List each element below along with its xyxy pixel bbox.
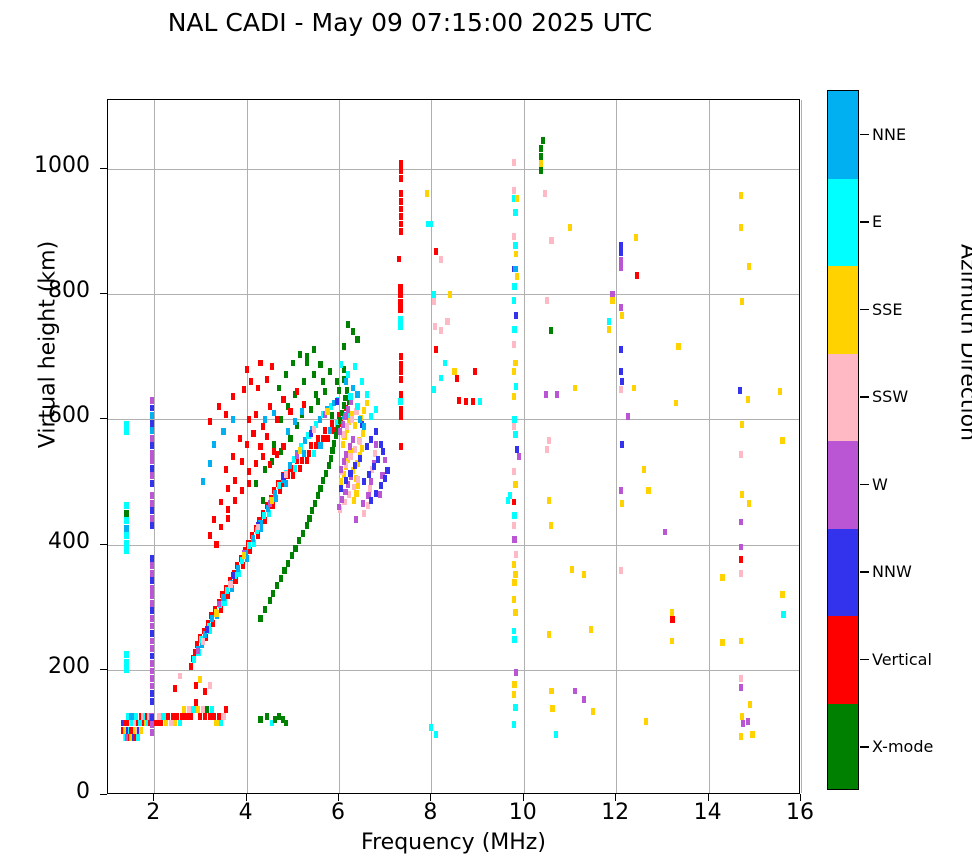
scatter-point [124, 510, 128, 517]
scatter-point [513, 704, 517, 711]
scatter-point [150, 623, 154, 630]
scatter-point [452, 368, 456, 375]
scatter-point [582, 696, 586, 703]
scatter-point [365, 391, 369, 398]
scatter-point [549, 327, 553, 334]
scatter-point [512, 522, 516, 529]
scatter-point [150, 698, 154, 705]
scatter-point [780, 591, 784, 598]
scatter-point [251, 535, 255, 542]
scatter-point [547, 437, 551, 444]
scatter-point [196, 706, 200, 713]
scatter-point [318, 442, 322, 449]
scatter-point [178, 720, 182, 727]
scatter-point [310, 507, 314, 514]
scatter-point [355, 391, 359, 398]
scatter-point [512, 691, 516, 698]
scatter-point [512, 341, 516, 348]
scatter-point [513, 266, 517, 273]
scatter-point [265, 433, 269, 440]
scatter-point [173, 685, 177, 692]
scatter-point [539, 153, 543, 160]
scatter-point [150, 600, 154, 607]
scatter-point [554, 731, 558, 738]
scatter-point [619, 264, 623, 271]
scatter-point [348, 453, 352, 460]
scatter-point [282, 567, 286, 574]
scatter-point [369, 497, 373, 504]
colorbar-segment-sse [828, 266, 858, 354]
scatter-point [305, 457, 309, 464]
x-tick-label: 8 [400, 800, 460, 825]
scatter-point [646, 487, 650, 494]
y-tick [100, 418, 107, 419]
scatter-point [471, 398, 475, 405]
scatter-point [514, 251, 518, 258]
scatter-point [399, 190, 403, 197]
scatter-point [325, 435, 329, 442]
scatter-point [184, 713, 188, 720]
scatter-point [568, 224, 572, 231]
scatter-point [353, 363, 357, 370]
scatter-point [150, 607, 154, 614]
scatter-point [635, 272, 639, 279]
scatter-point [399, 206, 403, 213]
scatter-point [300, 408, 304, 415]
scatter-point [740, 421, 744, 428]
scatter-point [150, 515, 154, 522]
scatter-point [173, 720, 177, 727]
scatter-point [124, 525, 128, 532]
scatter-point [544, 391, 548, 398]
scatter-point [323, 427, 327, 434]
scatter-point [512, 159, 516, 166]
scatter-point [301, 530, 305, 537]
scatter-point [309, 442, 313, 449]
scatter-point [739, 192, 743, 199]
scatter-point [171, 713, 175, 720]
colorbar-segment-nne [828, 91, 858, 179]
scatter-point [231, 453, 235, 460]
scatter-point [247, 480, 251, 487]
scatter-point [512, 499, 516, 506]
scatter-point [150, 555, 154, 562]
scatter-point [328, 368, 332, 375]
colorbar-title: Azimuth Direction [956, 203, 972, 483]
scatter-point [217, 601, 221, 608]
scatter-point [309, 406, 313, 413]
scatter-point [350, 416, 354, 423]
scatter-point [663, 529, 667, 536]
scatter-point [150, 690, 154, 697]
scatter-point [189, 663, 193, 670]
scatter-point [642, 466, 646, 473]
scatter-point [302, 378, 306, 385]
ionogram-page: NAL CADI - May 09 07:15:00 2025 UTC 2468… [0, 0, 972, 865]
scatter-point [150, 714, 154, 721]
scatter-point [340, 496, 344, 503]
scatter-point [626, 413, 630, 420]
scatter-point [619, 257, 623, 264]
scatter-point [198, 676, 202, 683]
scatter-point [399, 167, 403, 174]
scatter-point [355, 336, 359, 343]
scatter-point [150, 683, 154, 690]
scatter-point [270, 497, 274, 504]
scatter-point [369, 478, 373, 485]
scatter-point [307, 515, 311, 522]
scatter-point [547, 497, 551, 504]
scatter-point [478, 398, 482, 405]
scatter-point [198, 713, 202, 720]
y-tick [100, 794, 107, 795]
scatter-point [124, 666, 128, 673]
scatter-point [439, 256, 443, 263]
y-tick [100, 293, 107, 294]
scatter-point [231, 416, 235, 423]
scatter-point [620, 500, 624, 507]
scatter-point [124, 532, 128, 539]
scatter-point [124, 651, 128, 658]
scatter-point [205, 706, 209, 713]
scatter-point [368, 485, 372, 492]
scatter-point [150, 675, 154, 682]
scatter-point [242, 386, 246, 393]
scatter-point [161, 713, 165, 720]
scatter-point [305, 360, 309, 367]
scatter-point [512, 326, 516, 333]
scatter-point [549, 522, 553, 529]
scatter-point [372, 463, 376, 470]
colorbar-tick [860, 746, 869, 747]
scatter-point [268, 403, 272, 410]
scatter-point [254, 411, 258, 418]
scatter-point [619, 249, 623, 256]
scatter-point [254, 460, 258, 467]
scatter-point [354, 516, 358, 523]
scatter-point [512, 628, 516, 635]
scatter-point [365, 400, 369, 407]
scatter-point [175, 713, 179, 720]
scatter-point [339, 466, 343, 473]
scatter-point [515, 446, 519, 453]
scatter-points [108, 100, 799, 793]
scatter-point [221, 713, 225, 720]
scatter-point [277, 482, 281, 489]
scatter-point [385, 467, 389, 474]
scatter-point [258, 443, 262, 450]
colorbar-segment-ssw [828, 354, 858, 442]
scatter-point [512, 187, 516, 194]
scatter-point [739, 544, 743, 551]
scatter-point [150, 585, 154, 592]
scatter-point [374, 441, 378, 448]
colorbar-label-x-mode: X-mode [872, 737, 933, 756]
scatter-point [219, 499, 223, 506]
scatter-point [214, 720, 218, 727]
scatter-point [352, 497, 356, 504]
scatter-point [328, 427, 332, 434]
scatter-point [247, 416, 251, 423]
scatter-point [620, 378, 624, 385]
scatter-point [383, 475, 387, 482]
scatter-point [619, 346, 623, 353]
scatter-point [445, 318, 449, 325]
scatter-point [739, 675, 743, 682]
colorbar-tick [860, 396, 869, 397]
scatter-point [277, 385, 281, 392]
scatter-point [512, 681, 516, 688]
scatter-point [512, 368, 516, 375]
scatter-point [217, 403, 221, 410]
scatter-point [312, 426, 316, 433]
scatter-point [573, 385, 577, 392]
scatter-point [124, 421, 128, 428]
scatter-point [150, 500, 154, 507]
scatter-point [738, 387, 742, 394]
scatter-point [307, 450, 311, 457]
scatter-point [365, 443, 369, 450]
x-tick-label: 4 [216, 800, 276, 825]
scatter-point [305, 353, 309, 360]
scatter-point [739, 733, 743, 740]
scatter-point [512, 721, 516, 728]
scatter-point [261, 497, 265, 504]
scatter-point [428, 221, 432, 228]
scatter-point [187, 706, 191, 713]
scatter-point [268, 461, 272, 468]
scatter-point [362, 407, 366, 414]
scatter-point [245, 366, 249, 373]
scatter-point [191, 706, 195, 713]
scatter-point [361, 430, 365, 437]
scatter-point [150, 592, 154, 599]
scatter-point [208, 460, 212, 467]
scatter-point [374, 428, 378, 435]
scatter-point [356, 476, 360, 483]
scatter-point [346, 371, 350, 378]
scatter-point [238, 435, 242, 442]
scatter-point [150, 668, 154, 675]
scatter-point [228, 581, 232, 588]
scatter-point [473, 368, 477, 375]
scatter-point [189, 713, 193, 720]
scatter-point [619, 487, 623, 494]
scatter-point [515, 195, 519, 202]
scatter-point [262, 512, 266, 519]
scatter-point [247, 542, 251, 549]
x-tick-label: 6 [308, 800, 368, 825]
scatter-point [288, 435, 292, 442]
scatter-point [739, 519, 743, 526]
scatter-point [295, 388, 299, 395]
scatter-point [291, 472, 295, 479]
scatter-point [432, 386, 436, 393]
scatter-point [748, 701, 752, 708]
scatter-point [781, 611, 785, 618]
colorbar-segment-w [828, 441, 858, 529]
scatter-point [780, 437, 784, 444]
scatter-point [284, 371, 288, 378]
scatter-point [279, 416, 283, 423]
scatter-point [589, 626, 593, 633]
scatter-point [399, 198, 403, 205]
scatter-point [514, 669, 518, 676]
scatter-point [610, 297, 614, 304]
scatter-point [337, 504, 341, 511]
scatter-point [355, 403, 359, 410]
scatter-point [512, 416, 516, 423]
scatter-point [268, 597, 272, 604]
scatter-point [293, 418, 297, 425]
colorbar-label-w: W [872, 475, 888, 494]
scatter-point [316, 398, 320, 405]
scatter-point [346, 406, 350, 413]
scatter-point [201, 478, 205, 485]
scatter-point [312, 346, 316, 353]
scatter-point [747, 263, 751, 270]
scatter-point [335, 378, 339, 385]
scatter-point [356, 482, 360, 489]
scatter-point [337, 387, 341, 394]
scatter-point [291, 360, 295, 367]
scatter-point [288, 462, 292, 469]
scatter-point [265, 376, 269, 383]
scatter-point [399, 368, 403, 375]
scatter-point [150, 420, 154, 427]
scatter-point [297, 537, 301, 544]
scatter-point [620, 441, 624, 448]
scatter-point [221, 428, 225, 435]
scatter-point [212, 516, 216, 523]
scatter-point [134, 713, 138, 720]
scatter-point [256, 524, 260, 531]
scatter-point [150, 570, 154, 577]
scatter-point [254, 480, 258, 487]
scatter-point [321, 477, 325, 484]
scatter-point [399, 406, 403, 413]
scatter-point [398, 316, 402, 323]
scatter-point [272, 441, 276, 448]
scatter-point [607, 318, 611, 325]
scatter-point [194, 682, 198, 689]
gridline-vertical [801, 100, 802, 793]
scatter-point [298, 465, 302, 472]
scatter-point [670, 616, 674, 623]
scatter-point [233, 477, 237, 484]
y-tick-label: 400 [10, 529, 90, 554]
scatter-point [517, 453, 521, 460]
scatter-point [362, 423, 366, 430]
scatter-point [258, 360, 262, 367]
scatter-point [381, 448, 385, 455]
scatter-point [351, 436, 355, 443]
scatter-point [361, 500, 365, 507]
scatter-point [225, 587, 229, 594]
scatter-point [341, 441, 345, 448]
scatter-point [224, 706, 228, 713]
scatter-point [512, 233, 516, 240]
scatter-point [439, 327, 443, 334]
colorbar-label-sse: SSE [872, 300, 902, 319]
scatter-point [219, 720, 223, 727]
scatter-point [512, 596, 516, 603]
scatter-point [358, 416, 362, 423]
scatter-point [136, 734, 140, 741]
colorbar-segment-e [828, 179, 858, 267]
scatter-point [272, 410, 276, 417]
scatter-point [740, 713, 744, 720]
x-tick-label: 16 [770, 800, 830, 825]
scatter-point [302, 401, 306, 408]
scatter-point [157, 713, 161, 720]
scatter-point [275, 582, 279, 589]
scatter-point [343, 489, 347, 496]
x-tick-label: 12 [585, 800, 645, 825]
scatter-point [739, 570, 743, 577]
scatter-point [208, 418, 212, 425]
scatter-point [644, 718, 648, 725]
scatter-point [150, 615, 154, 622]
scatter-point [150, 427, 154, 434]
scatter-point [399, 376, 403, 383]
scatter-point [281, 443, 285, 450]
scatter-point [323, 388, 327, 395]
scatter-point [236, 565, 240, 572]
scatter-point [210, 706, 214, 713]
scatter-point [150, 660, 154, 667]
scatter-point [256, 385, 260, 392]
scatter-point [398, 299, 402, 306]
scatter-point [513, 431, 517, 438]
scatter-point [150, 457, 154, 464]
colorbar-segment-x-mode [828, 704, 858, 791]
colorbar-tick [860, 309, 869, 310]
scatter-point [746, 396, 750, 403]
scatter-point [150, 638, 154, 645]
scatter-point [226, 485, 230, 492]
y-tick [100, 669, 107, 670]
scatter-point [196, 648, 200, 655]
scatter-point [399, 361, 403, 368]
scatter-point [150, 472, 154, 479]
scatter-point [555, 391, 559, 398]
scatter-point [740, 298, 744, 305]
scatter-point [226, 515, 230, 522]
scatter-point [316, 435, 320, 442]
scatter-point [201, 638, 205, 645]
scatter-point [360, 378, 364, 385]
scatter-point [550, 705, 554, 712]
scatter-point [192, 656, 196, 663]
scatter-point [224, 411, 228, 418]
scatter-point [383, 457, 387, 464]
scatter-point [591, 708, 595, 715]
scatter-point [512, 423, 516, 430]
scatter-point [166, 713, 170, 720]
scatter-point [150, 435, 154, 442]
colorbar-tick [860, 571, 869, 572]
scatter-point [512, 579, 516, 586]
scatter-point [335, 398, 339, 405]
scatter-point [573, 688, 577, 695]
scatter-point [619, 304, 623, 311]
plot-area [107, 99, 800, 794]
scatter-point [159, 720, 163, 727]
scatter-point [338, 428, 342, 435]
scatter-point [439, 375, 443, 382]
scatter-point [541, 137, 545, 144]
